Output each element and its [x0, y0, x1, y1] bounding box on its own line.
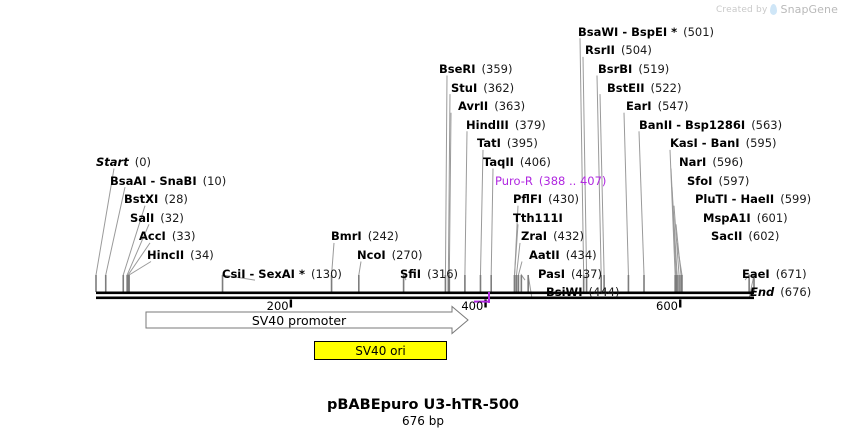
- cut-site-tick[interactable]: [643, 275, 645, 292]
- site-position: (432): [553, 229, 584, 243]
- cut-site-tick[interactable]: [128, 275, 130, 292]
- site-name: PflFI: [513, 192, 542, 206]
- site-label-bstxi[interactable]: BstXI(28): [124, 193, 188, 205]
- site-position: (359): [482, 62, 513, 76]
- site-label-pluti-haeii[interactable]: PluTI - HaeII(599): [695, 193, 811, 205]
- site-position: (395): [507, 136, 538, 150]
- site-name: ZraI: [521, 229, 547, 243]
- cut-site-tick[interactable]: [676, 275, 678, 292]
- site-position: (563): [751, 118, 782, 132]
- site-position: (32): [160, 211, 184, 225]
- site-name: BstXI: [124, 192, 158, 206]
- site-position: (444): [589, 285, 620, 299]
- site-position: (501): [683, 25, 714, 39]
- site-label-sacii[interactable]: SacII(602): [711, 230, 779, 242]
- site-position: (595): [746, 136, 777, 150]
- site-name: NcoI: [357, 248, 386, 262]
- site-label-sfoi[interactable]: SfoI(597): [687, 175, 749, 187]
- site-position: (130): [311, 267, 342, 281]
- site-label-csii-sexai[interactable]: CsiI - SexAI *(130): [222, 268, 342, 280]
- site-label-mspa1i[interactable]: MspA1I(601): [703, 212, 788, 224]
- site-name: AvrII: [458, 99, 488, 113]
- site-label-puro-r[interactable]: Puro-R(388 .. 407): [495, 175, 606, 187]
- site-position: (437): [571, 267, 602, 281]
- site-position: (363): [494, 99, 525, 113]
- cut-site-tick[interactable]: [681, 275, 683, 292]
- page-title: pBABEpuro U3-hTR-500: [0, 397, 846, 413]
- site-name: Puro-R: [495, 174, 533, 188]
- ruler-tick-label: 200: [267, 299, 289, 313]
- cut-site-tick[interactable]: [678, 275, 680, 292]
- site-label-bsaai-snabi[interactable]: BsaAI - SnaBI(10): [110, 175, 226, 187]
- site-position: (242): [368, 229, 399, 243]
- cut-site-tick[interactable]: [527, 275, 529, 292]
- site-name: PasI: [538, 267, 565, 281]
- site-label-aatii[interactable]: AatII(434): [529, 249, 597, 261]
- site-label-pasi[interactable]: PasI(437): [538, 268, 602, 280]
- site-position: (596): [712, 155, 743, 169]
- site-name: MspA1I: [703, 211, 751, 225]
- sv40-ori-label: SV40 ori: [355, 344, 406, 358]
- ruler-tick-label: 400: [461, 299, 483, 313]
- site-name: NarI: [679, 155, 706, 169]
- site-position: (547): [658, 99, 689, 113]
- site-position: (601): [757, 211, 788, 225]
- site-label-eaei[interactable]: EaeI(671): [742, 268, 807, 280]
- site-leader-line: [129, 262, 151, 293]
- site-name: BseRI: [439, 62, 476, 76]
- site-label-sfii[interactable]: SfiI(316): [400, 268, 458, 280]
- site-label-bsteii[interactable]: BstEII(522): [607, 82, 681, 94]
- ruler-tick-mark: [290, 300, 292, 308]
- site-position: (28): [164, 192, 188, 206]
- site-position: (519): [638, 62, 669, 76]
- site-position: (388 .. 407): [539, 174, 607, 188]
- site-name: CsiI - SexAI *: [222, 267, 305, 281]
- ruler-tick-label: 600: [656, 299, 678, 313]
- site-position: (406): [520, 155, 551, 169]
- site-name: SacII: [711, 229, 742, 243]
- cut-site-tick[interactable]: [464, 275, 466, 292]
- site-label-hindiii[interactable]: HindIII(379): [466, 119, 546, 131]
- cut-site-tick[interactable]: [628, 275, 630, 292]
- site-label-sali[interactable]: SalI(32): [130, 212, 184, 224]
- site-label-hincii[interactable]: HincII(34): [147, 249, 214, 261]
- site-leader-line: [491, 169, 493, 293]
- site-name: AatII: [529, 248, 560, 262]
- site-name: BstEII: [607, 81, 645, 95]
- sv40-ori-feature[interactable]: SV40 ori: [314, 341, 447, 360]
- site-position: (0): [135, 155, 151, 169]
- site-name: Start: [96, 155, 129, 169]
- site-name: End: [750, 285, 774, 299]
- site-label-start[interactable]: Start(0): [96, 156, 151, 168]
- site-position: (33): [172, 229, 196, 243]
- site-label-tati[interactable]: TatI(395): [477, 137, 538, 149]
- plasmid-backbone: [96, 292, 754, 300]
- ruler-tick-mark: [679, 300, 681, 308]
- site-name: BanII - Bsp1286I: [639, 118, 745, 132]
- site-position: (504): [621, 43, 652, 57]
- site-label-banii-bsp1286i[interactable]: BanII - Bsp1286I(563): [639, 119, 782, 131]
- site-name: AccI: [139, 229, 166, 243]
- site-label-acci[interactable]: AccI(33): [139, 230, 195, 242]
- site-name: RsrII: [585, 43, 615, 57]
- site-leader-line: [480, 150, 483, 292]
- cut-site-tick[interactable]: [358, 275, 360, 292]
- site-label-avrii[interactable]: AvrII(363): [458, 100, 525, 112]
- site-label-kasi-bani[interactable]: KasI - BanI(595): [670, 137, 777, 149]
- site-leader-line: [445, 76, 447, 293]
- site-position: (597): [718, 174, 749, 188]
- site-position: (379): [515, 118, 546, 132]
- site-name: EaeI: [742, 267, 770, 281]
- site-position: (434): [566, 248, 597, 262]
- site-position: (430): [548, 192, 579, 206]
- site-leader-line: [624, 113, 628, 292]
- site-position: (676): [780, 285, 811, 299]
- site-label-bmri[interactable]: BmrI(242): [331, 230, 399, 242]
- site-position: (34): [190, 248, 214, 262]
- site-label-end[interactable]: End(676): [750, 286, 811, 298]
- site-position: (270): [392, 248, 423, 262]
- site-label-pflfi[interactable]: PflFI(430): [513, 193, 579, 205]
- cut-site-tick[interactable]: [490, 275, 492, 292]
- site-position: (522): [651, 81, 682, 95]
- site-leader-line: [465, 131, 467, 292]
- cut-site-tick[interactable]: [480, 275, 482, 292]
- site-name: BmrI: [331, 229, 362, 243]
- site-position: (316): [427, 267, 458, 281]
- site-label-nari[interactable]: NarI(596): [679, 156, 743, 168]
- site-position: (602): [748, 229, 779, 243]
- site-label-bsiwi[interactable]: BsiWI(444): [546, 286, 619, 298]
- site-name: TatI: [477, 136, 501, 150]
- site-name: HindIII: [466, 118, 509, 132]
- site-name: BsaAI - SnaBI: [110, 174, 197, 188]
- site-name: EarI: [626, 99, 652, 113]
- cut-site-tick[interactable]: [122, 275, 124, 292]
- cut-site-tick[interactable]: [516, 275, 518, 292]
- site-name: TaqII: [483, 155, 514, 169]
- site-position: (671): [776, 267, 807, 281]
- plasmid-length-label: 676 bp: [0, 414, 846, 428]
- site-name: BsiWI: [546, 285, 583, 299]
- site-name: SfiI: [400, 267, 421, 281]
- site-leader-line: [639, 131, 644, 292]
- site-name: StuI: [451, 81, 477, 95]
- site-label-taqii[interactable]: TaqII(406): [483, 156, 551, 168]
- site-name: BsaWI - BspEI *: [578, 25, 677, 39]
- cut-site-tick[interactable]: [95, 275, 97, 292]
- site-label-bsrbi[interactable]: BsrBI(519): [598, 63, 669, 75]
- site-name: SalI: [130, 211, 154, 225]
- site-position: (599): [780, 192, 811, 206]
- site-label-bseri[interactable]: BseRI(359): [439, 63, 512, 75]
- cut-site-tick[interactable]: [514, 275, 516, 292]
- site-name: SfoI: [687, 174, 712, 188]
- site-label-ncoi[interactable]: NcoI(270): [357, 249, 423, 261]
- site-label-rsrii[interactable]: RsrII(504): [585, 44, 652, 56]
- site-label-eari[interactable]: EarI(547): [626, 100, 689, 112]
- site-name: BsrBI: [598, 62, 632, 76]
- sv40-promoter-label: SV40 promoter: [146, 312, 452, 329]
- site-label-tth111i[interactable]: Tth111I: [513, 212, 563, 224]
- site-name: HincII: [147, 248, 184, 262]
- site-name: Tth111I: [513, 211, 563, 225]
- site-name: PluTI - HaeII: [695, 192, 774, 206]
- cut-site-tick[interactable]: [105, 275, 107, 292]
- site-name: KasI - BanI: [670, 136, 740, 150]
- site-position: (10): [203, 174, 227, 188]
- cut-site-tick[interactable]: [521, 275, 523, 292]
- site-position: (362): [483, 81, 514, 95]
- site-label-stui[interactable]: StuI(362): [451, 82, 514, 94]
- cut-site-tick[interactable]: [518, 275, 520, 292]
- site-label-bsawi-bspei[interactable]: BsaWI - BspEI *(501): [578, 26, 714, 38]
- site-label-zrai[interactable]: ZraI(432): [521, 230, 584, 242]
